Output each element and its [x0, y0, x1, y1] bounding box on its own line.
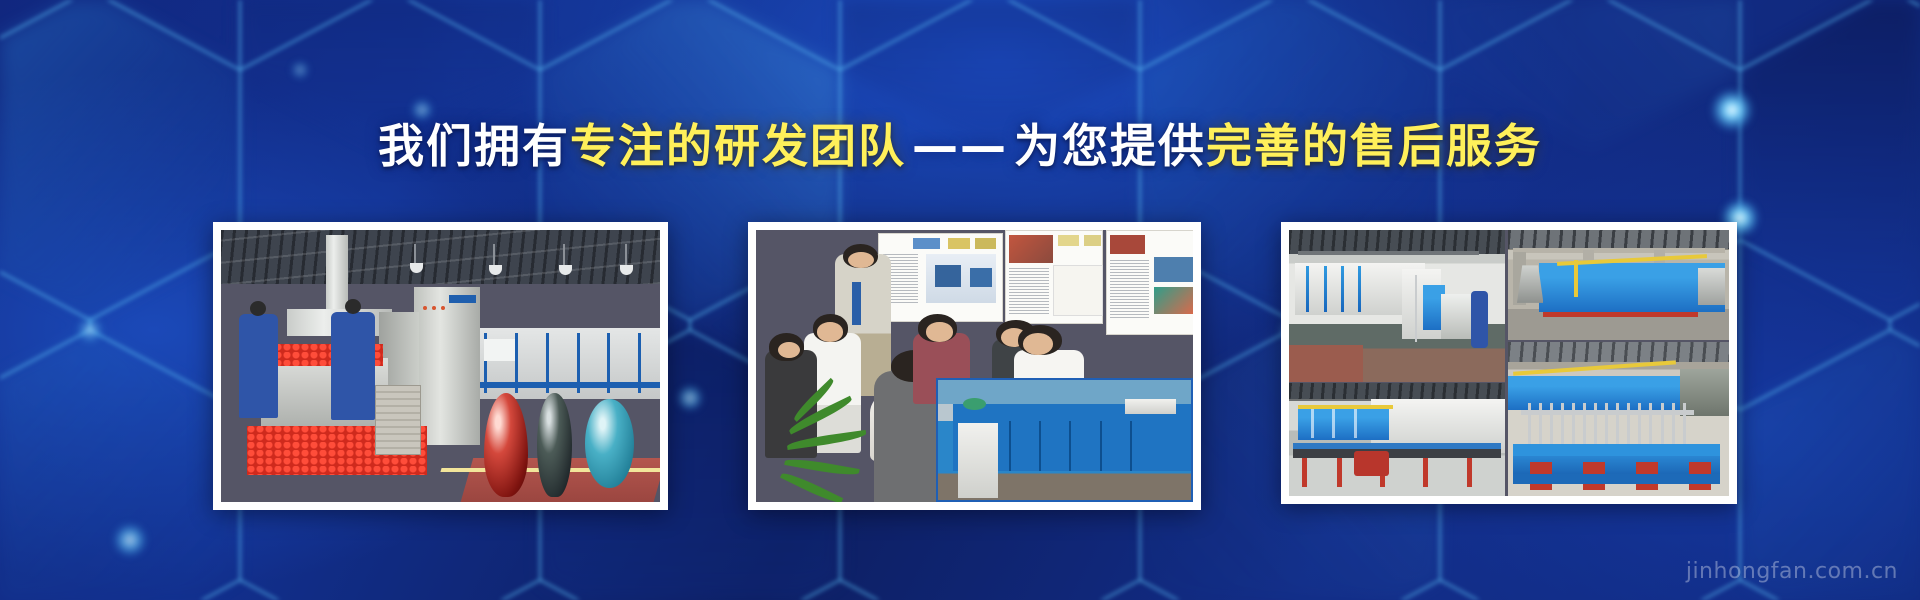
- headline-segment-1: 我们拥有: [378, 119, 570, 173]
- photo-card-row: [0, 222, 1920, 512]
- product-vase-red: [484, 393, 528, 496]
- headline-segment-2: 专注的研发团队: [570, 119, 906, 173]
- collage-quadrant-3: [1508, 230, 1729, 340]
- collage-quadrant-4: [1508, 342, 1729, 496]
- headline-segment-4: 完善的售后服务: [1206, 119, 1542, 173]
- collage-quadrant-2: [1289, 383, 1505, 496]
- photo-3-image: [1289, 230, 1729, 496]
- photo-2-image: [756, 230, 1193, 502]
- product-vase-dark: [537, 393, 572, 496]
- photo-card-factory-line[interactable]: [213, 222, 668, 510]
- site-watermark: jinhongfan.com.cn: [1686, 559, 1898, 584]
- inset-equipment-photo: [936, 378, 1193, 502]
- photo-card-equipment-collage[interactable]: [1281, 222, 1737, 504]
- promo-banner: 我们拥有专注的研发团队——为您提供完善的售后服务: [0, 0, 1920, 600]
- headline-separator: ——: [906, 119, 1014, 173]
- photo-card-client-meeting[interactable]: [748, 222, 1201, 510]
- product-vase-blue: [585, 399, 633, 489]
- worker-figure: [331, 312, 375, 421]
- banner-headline: 我们拥有专注的研发团队——为您提供完善的售后服务: [0, 119, 1920, 173]
- photo-1-image: [221, 230, 660, 502]
- collage-quadrant-1: [1289, 230, 1505, 382]
- worker-figure: [239, 314, 279, 417]
- headline-segment-3: 为您提供: [1014, 119, 1206, 173]
